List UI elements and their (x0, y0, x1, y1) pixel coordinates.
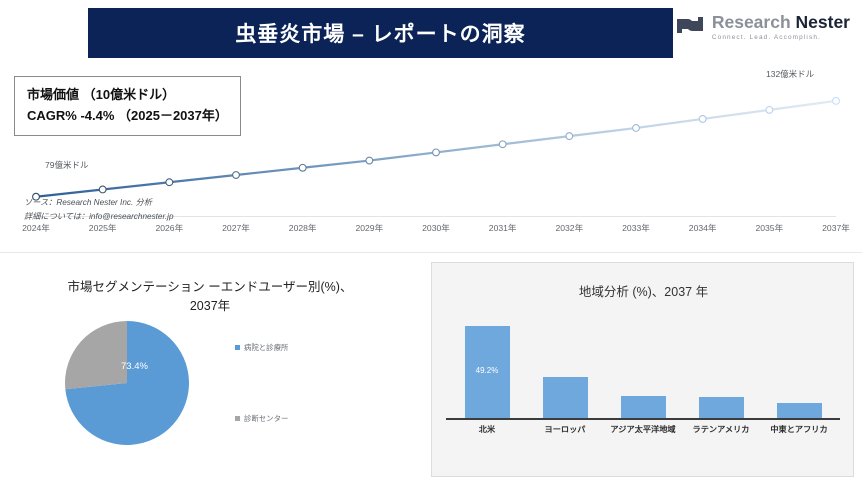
bar-column (699, 397, 744, 418)
legend-spacer (235, 353, 355, 413)
x-tick-label: 2026年 (155, 222, 183, 234)
x-tick-label: 2030年 (422, 222, 450, 234)
bar-chart-plot-area: 49.2% (448, 321, 838, 418)
segmentation-pie-panel: 市場セグメンテーション ーエンドユーザー別(%)、 2037年 病院と診療所 診… (0, 258, 420, 485)
line-data-point (566, 133, 573, 140)
line-data-point (766, 106, 773, 113)
line-data-point (699, 116, 706, 123)
logo-tagline: Connect. Lead. Accomplish. (712, 35, 850, 41)
line-data-point (633, 125, 640, 132)
header-bar: 虫垂炎市場 – レポートの洞察 (88, 8, 673, 58)
logo-word-research: Research (712, 12, 796, 32)
research-nester-logo-icon (675, 14, 705, 41)
regional-analysis-bar-panel: 地域分析 (%)、2037 年 49.2% 北米ヨーロッパアジア太平洋地域ラテン… (431, 262, 854, 477)
bar-category-label: アジア太平洋地域 (610, 423, 675, 435)
x-tick-label: 2024年 (22, 222, 50, 234)
page-title: 虫垂炎市場 – レポートの洞察 (235, 18, 525, 48)
section-divider (0, 252, 862, 253)
bar-column: 49.2% (465, 326, 510, 418)
pie-chart-title: 市場セグメンテーション ーエンドユーザー別(%)、 2037年 (0, 278, 420, 316)
pie-chart-svg (62, 318, 192, 448)
x-tick-label: 2029年 (355, 222, 383, 234)
line-end-value-label: 132億米ドル (766, 68, 814, 80)
line-data-point (499, 141, 506, 148)
line-data-point (433, 149, 440, 156)
footer-source-note: ソース：Research Nester Inc. 分析 詳細については：info… (24, 196, 174, 223)
line-data-point (299, 164, 306, 171)
line-data-point (833, 97, 840, 104)
bar-chart-x-axis (446, 418, 840, 420)
footer-source: ソース：Research Nester Inc. 分析 (24, 196, 174, 210)
bar-chart-x-tick-labels: 北米ヨーロッパアジア太平洋地域ラテンアメリカ中東とアフリカ (448, 423, 838, 443)
bar-column (621, 396, 666, 418)
x-tick-label: 2027年 (222, 222, 250, 234)
line-data-point (166, 179, 173, 186)
bar-category-label: ラテンアメリカ (693, 423, 750, 435)
line-chart-x-tick-labels: 2024年2025年2026年2027年2028年2029年2030年2031年… (36, 222, 836, 242)
x-tick-label: 2035年 (755, 222, 783, 234)
line-data-point (233, 172, 240, 179)
bar-value-label: 49.2% (465, 366, 510, 375)
pie-title-line2: 2037年 (190, 299, 230, 313)
x-tick-label: 2034年 (689, 222, 717, 234)
legend-swatch-icon-diagnostic (235, 416, 240, 421)
x-tick-label: 2033年 (622, 222, 650, 234)
pie-slice-value-label: 73.4% (121, 361, 148, 372)
bar-column (543, 377, 588, 418)
bar-category-label: 中東とアフリカ (770, 423, 827, 435)
x-tick-label: 2028年 (289, 222, 317, 234)
line-data-point (99, 186, 106, 193)
pie-title-line1: 市場セグメンテーション ーエンドユーザー別(%)、 (68, 280, 353, 294)
pie-legend-item-diagnostic: 診断センター (235, 413, 355, 424)
logo-word-nester: Nester (796, 12, 850, 32)
pie-legend-label-hospitals: 病院と診療所 (244, 342, 288, 353)
legend-swatch-icon-hospitals (235, 345, 240, 350)
pie-legend: 病院と診療所 診断センター (235, 342, 355, 424)
bar-category-label: 北米 (479, 423, 495, 435)
x-tick-label: 2037年 (822, 222, 850, 234)
logo-wordmark: Research Nester (712, 14, 850, 32)
x-tick-label: 2032年 (555, 222, 583, 234)
footer-contact: 詳細については：info@researchnester.jp (24, 210, 174, 224)
bar-chart-title: 地域分析 (%)、2037 年 (432, 281, 855, 300)
x-tick-label: 2031年 (489, 222, 517, 234)
bar-column (777, 403, 822, 418)
line-data-point (366, 157, 373, 164)
brand-logo: Research Nester Connect. Lead. Accomplis… (675, 14, 850, 41)
pie-legend-label-diagnostic: 診断センター (244, 413, 288, 424)
line-start-value-label: 79億米ドル (45, 159, 88, 171)
x-tick-label: 2025年 (89, 222, 117, 234)
pie-slice (65, 321, 127, 389)
bar-category-label: ヨーロッパ (545, 423, 586, 435)
pie-legend-item-hospitals: 病院と診療所 (235, 342, 355, 353)
